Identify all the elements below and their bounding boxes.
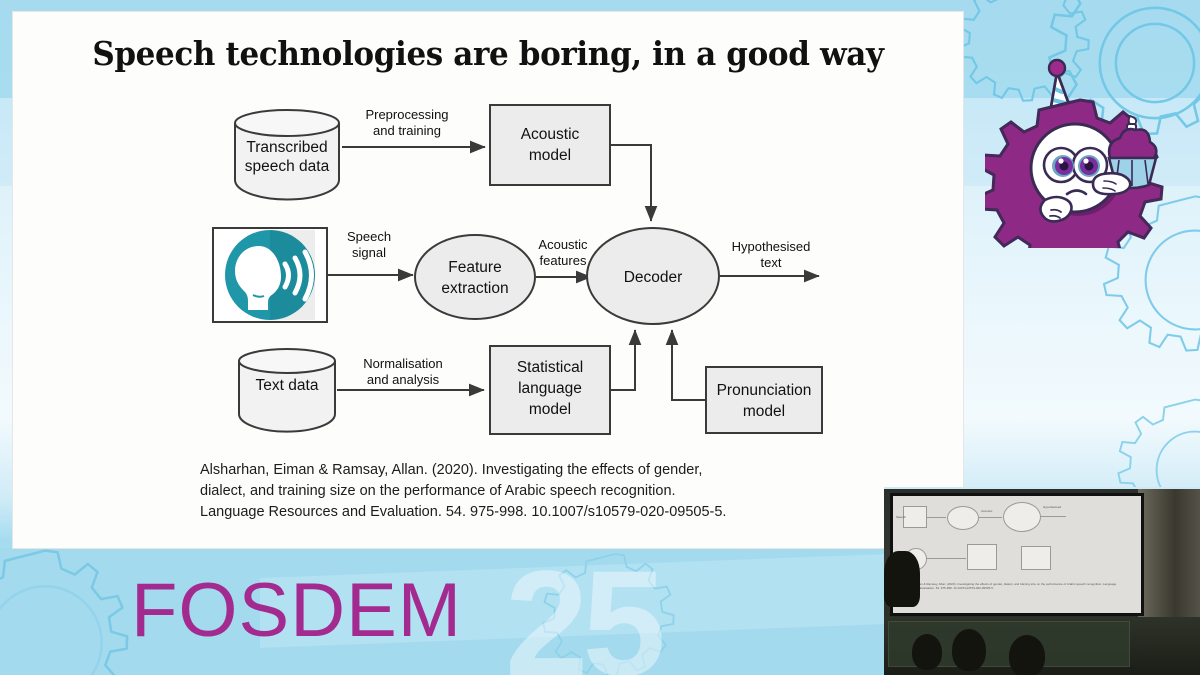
mini-speech-icon [903,506,927,528]
citation-line-3: Language Resources and Evaluation. 54. 9… [200,502,900,523]
node-acoustic-model [490,105,610,185]
label-hypothesised-text-1: Hypothesised [732,239,811,254]
node-pronunciation-model [706,367,822,433]
fosdem-wordmark: FOSDEM [131,573,462,649]
label-pronunciation-model-1: Pronunciation [717,382,812,399]
slide-title: Speech technologies are boring, in a goo… [42,34,935,73]
mini-label: Hypothesised [1043,505,1061,509]
speech-waveform-icon [225,230,315,320]
mini-citation: Alsharhan, Eiman & Ramsay, Allan. (2020)… [899,582,1119,590]
mini-edge [1040,516,1066,517]
presentation-recording-frame: 25 FOSDEM Speech technologies are boring… [0,0,1200,675]
slide-content: Speech technologies are boring, in a goo… [13,12,963,548]
label-text-data: Text data [256,377,319,394]
label-statistical-language-model-1: Statistical [517,359,583,376]
label-speech-signal-2: signal [352,245,386,260]
background-gear-icon [0,538,150,675]
label-transcribed-speech-data-2: speech data [245,158,330,175]
mascot-hand-right [1093,173,1130,194]
projected-slide-content: Speech Acoustic Hypothesised Alsharhan, … [893,496,1141,613]
mini-feature-extraction [947,506,979,530]
audience-head [1009,635,1045,675]
label-acoustic-model-1: Acoustic [521,126,580,143]
label-feature-extraction-2: extraction [441,280,508,297]
mini-slm [967,544,997,570]
label-feature-extraction-1: Feature [448,259,501,276]
label-speech-signal-1: Speech [347,229,391,244]
label-pronunciation-model-2: model [743,403,785,420]
mini-pron-model [1021,546,1051,570]
label-preprocessing-1: Preprocessing [365,107,448,122]
label-hypothesised-text-2: text [761,255,782,270]
citation-line-2: dialect, and training size on the perfor… [200,481,900,502]
label-preprocessing-2: and training [373,123,441,138]
mini-edge [926,517,946,518]
audience-head [912,634,942,670]
label-acoustic-features-2: features [540,253,587,268]
projected-slide: Speech Acoustic Hypothesised Alsharhan, … [890,493,1144,616]
anniversary-year-watermark: 25 [505,548,660,675]
mini-label: Acoustic [981,509,992,513]
label-transcribed-speech-data-1: Transcribed [246,139,327,156]
fosdem-gear-mascot: 25 [985,48,1175,248]
label-acoustic-features-1: Acoustic [538,237,588,252]
slide-citation: Alsharhan, Eiman & Ramsay, Allan. (2020)… [200,460,900,523]
citation-line-1: Alsharhan, Eiman & Ramsay, Allan. (2020)… [200,460,900,481]
mini-edge [926,558,966,559]
audience-head [952,629,986,671]
label-statistical-language-model-2: language [518,380,582,397]
room-wall-right [1138,489,1200,617]
node-feature-extraction [415,235,535,319]
mini-edge [978,517,1002,518]
mascot-hand-left [1040,197,1071,221]
mini-decoder [1003,502,1041,532]
mini-label: Speech [896,515,906,519]
label-statistical-language-model-3: model [529,401,571,418]
label-acoustic-model-2: model [529,147,571,164]
label-normalisation-2: and analysis [367,372,440,387]
label-normalisation-1: Normalisation [363,356,442,371]
speaker-camera-feed[interactable]: Speech Acoustic Hypothesised Alsharhan, … [884,487,1200,675]
speaker-silhouette [884,551,920,607]
asr-pipeline-diagram: Transcribed speech data Acoustic model F… [13,90,963,460]
label-decoder: Decoder [624,269,683,286]
